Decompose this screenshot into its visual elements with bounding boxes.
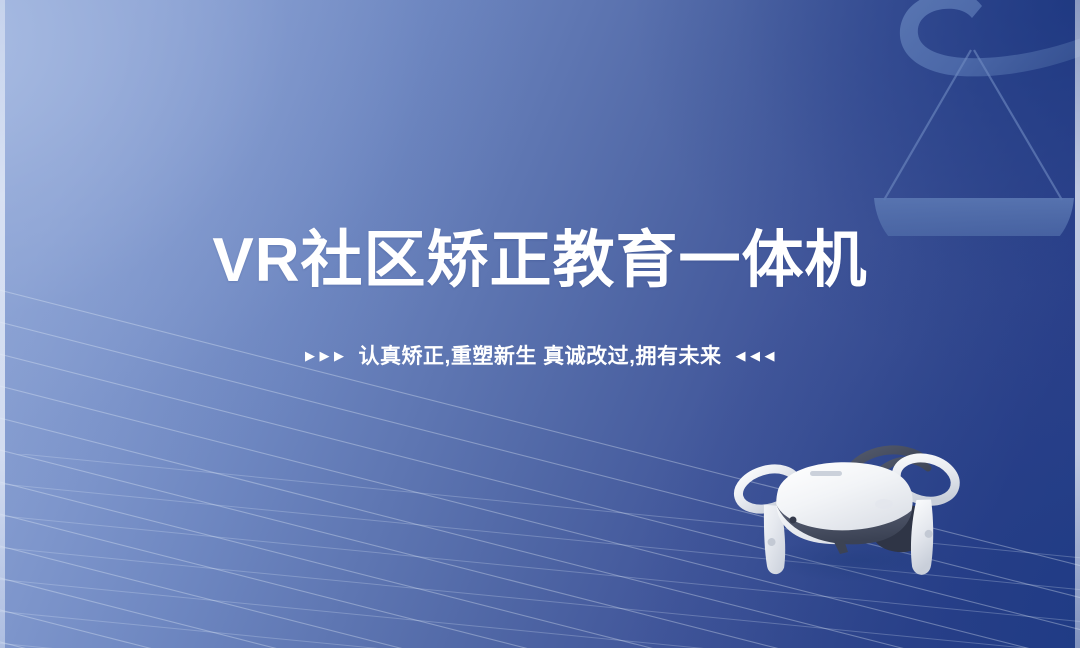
triangle-markers-left-icon: ▶ ▶ ▶ [305, 349, 345, 362]
poster-canvas: VR社区矫正教育一体机 ▶ ▶ ▶ 认真矫正,重塑新生 真诚改过,拥有未来 ◀ … [0, 0, 1080, 648]
play-triangle-left-icon: ◀ [750, 349, 761, 362]
content-layer: VR社区矫正教育一体机 ▶ ▶ ▶ 认真矫正,重塑新生 真诚改过,拥有未来 ◀ … [0, 0, 1080, 648]
play-triangle-icon: ▶ [305, 349, 316, 362]
subtitle-row: ▶ ▶ ▶ 认真矫正,重塑新生 真诚改过,拥有未来 ◀ ◀ ◀ [0, 340, 1080, 370]
page-title: VR社区矫正教育一体机 [0, 228, 1080, 293]
play-triangle-icon: ▶ [334, 349, 345, 362]
play-triangle-icon: ▶ [319, 349, 330, 362]
subtitle-text: 认真矫正,重塑新生 真诚改过,拥有未来 [358, 340, 721, 370]
play-triangle-left-icon: ◀ [765, 349, 776, 362]
triangle-markers-right-icon: ◀ ◀ ◀ [736, 349, 776, 362]
play-triangle-left-icon: ◀ [736, 349, 747, 362]
